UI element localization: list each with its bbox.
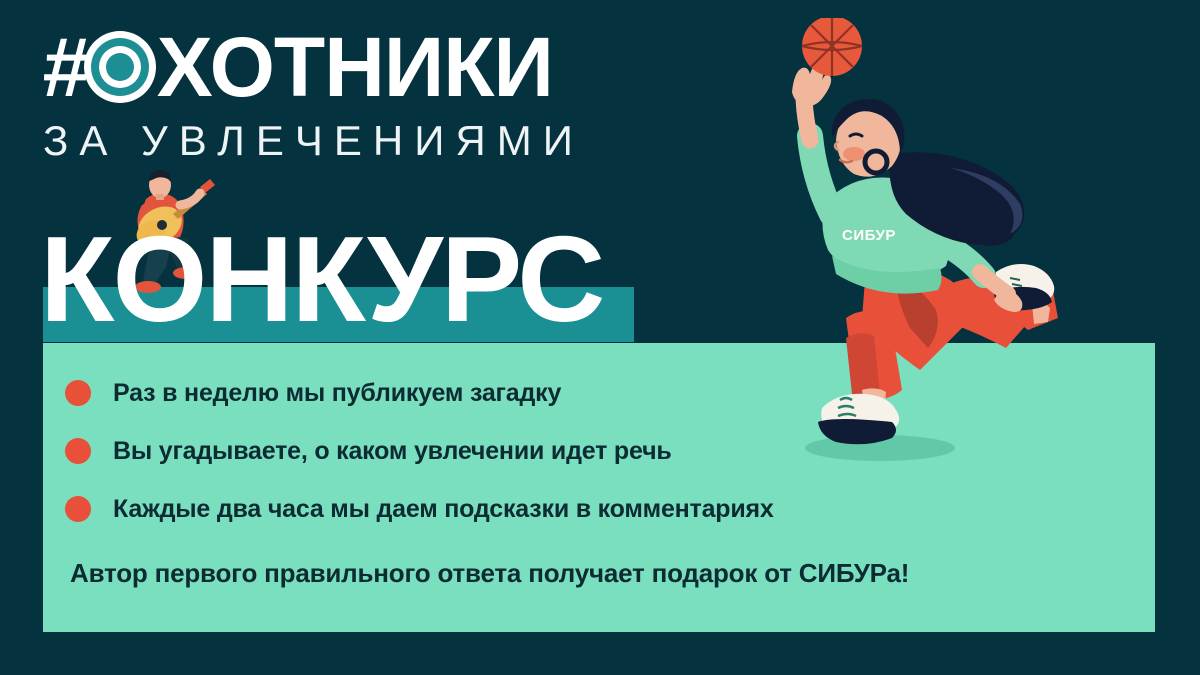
logo-sub-text: ЗА УВЛЕЧЕНИЯМИ [43, 120, 663, 162]
logo-main-row: # ХОТНИКИ [43, 26, 663, 108]
shirt-logo-text: СИБУР [842, 227, 896, 244]
basketball-player-illustration: СИБУР [770, 18, 1070, 498]
bullet-text: Вы угадываете, о каком увлечении идет ре… [113, 437, 672, 466]
bullet-dot-icon [65, 380, 91, 406]
promo-poster: # ХОТНИКИ ЗА УВЛЕЧЕНИЯМИ КОНКУРС [0, 0, 1200, 675]
bullet-dot-icon [65, 496, 91, 522]
prize-note: Автор первого правильного ответа получае… [70, 558, 909, 589]
bullet-dot-icon [65, 438, 91, 464]
brand-logo: # ХОТНИКИ ЗА УВЛЕЧЕНИЯМИ [43, 26, 663, 162]
target-ring-center [106, 53, 134, 81]
list-item: Раз в неделю мы публикуем загадку [65, 365, 774, 421]
basketball-icon [802, 18, 862, 76]
target-bullseye-icon [84, 31, 156, 103]
hash-icon: # [42, 25, 90, 109]
list-item: Вы угадываете, о каком увлечении идет ре… [65, 423, 774, 479]
bullet-text: Раз в неделю мы публикуем загадку [113, 379, 561, 408]
bullet-text: Каждые два часа мы даем подсказки в комм… [113, 495, 774, 524]
logo-main-text: ХОТНИКИ [157, 25, 553, 109]
page-title: КОНКУРС [40, 218, 603, 340]
list-item: Каждые два часа мы даем подсказки в комм… [65, 481, 774, 537]
bullet-list: Раз в неделю мы публикуем загадку Вы уга… [65, 365, 774, 539]
